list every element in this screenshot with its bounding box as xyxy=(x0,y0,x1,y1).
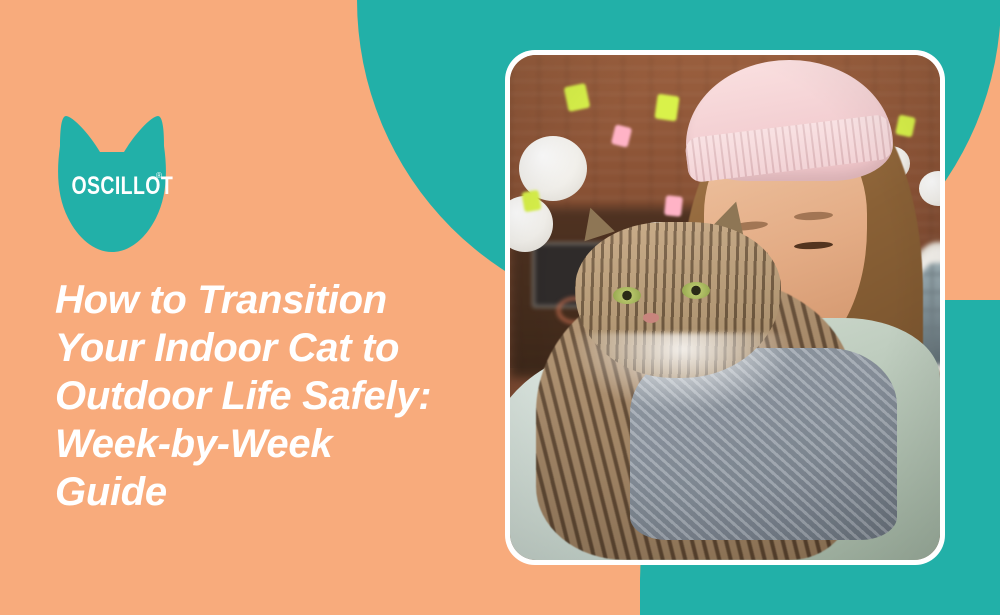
oscillot-logo[interactable]: OSCILLOT ® xyxy=(48,112,176,256)
registered-trademark-symbol: ® xyxy=(156,172,162,180)
page-title: How to Transition Your Indoor Cat to Out… xyxy=(55,276,455,516)
headline-line-5: Guide xyxy=(55,468,455,516)
headline-line-1: How to Transition xyxy=(55,276,455,324)
photo-vignette xyxy=(510,55,940,560)
hero-photo-card xyxy=(505,50,945,565)
oscillot-wordmark: OSCILLOT xyxy=(71,174,152,199)
headline-line-2: Your Indoor Cat to xyxy=(55,324,455,372)
blog-hero-banner: OSCILLOT ® How to Transition Your Indoor… xyxy=(0,0,1000,615)
headline-line-3: Outdoor Life Safely: xyxy=(55,372,455,420)
headline-line-4: Week-by-Week xyxy=(55,420,455,468)
hero-text-column: OSCILLOT ® How to Transition Your Indoor… xyxy=(0,0,470,615)
hero-photo xyxy=(510,55,940,560)
